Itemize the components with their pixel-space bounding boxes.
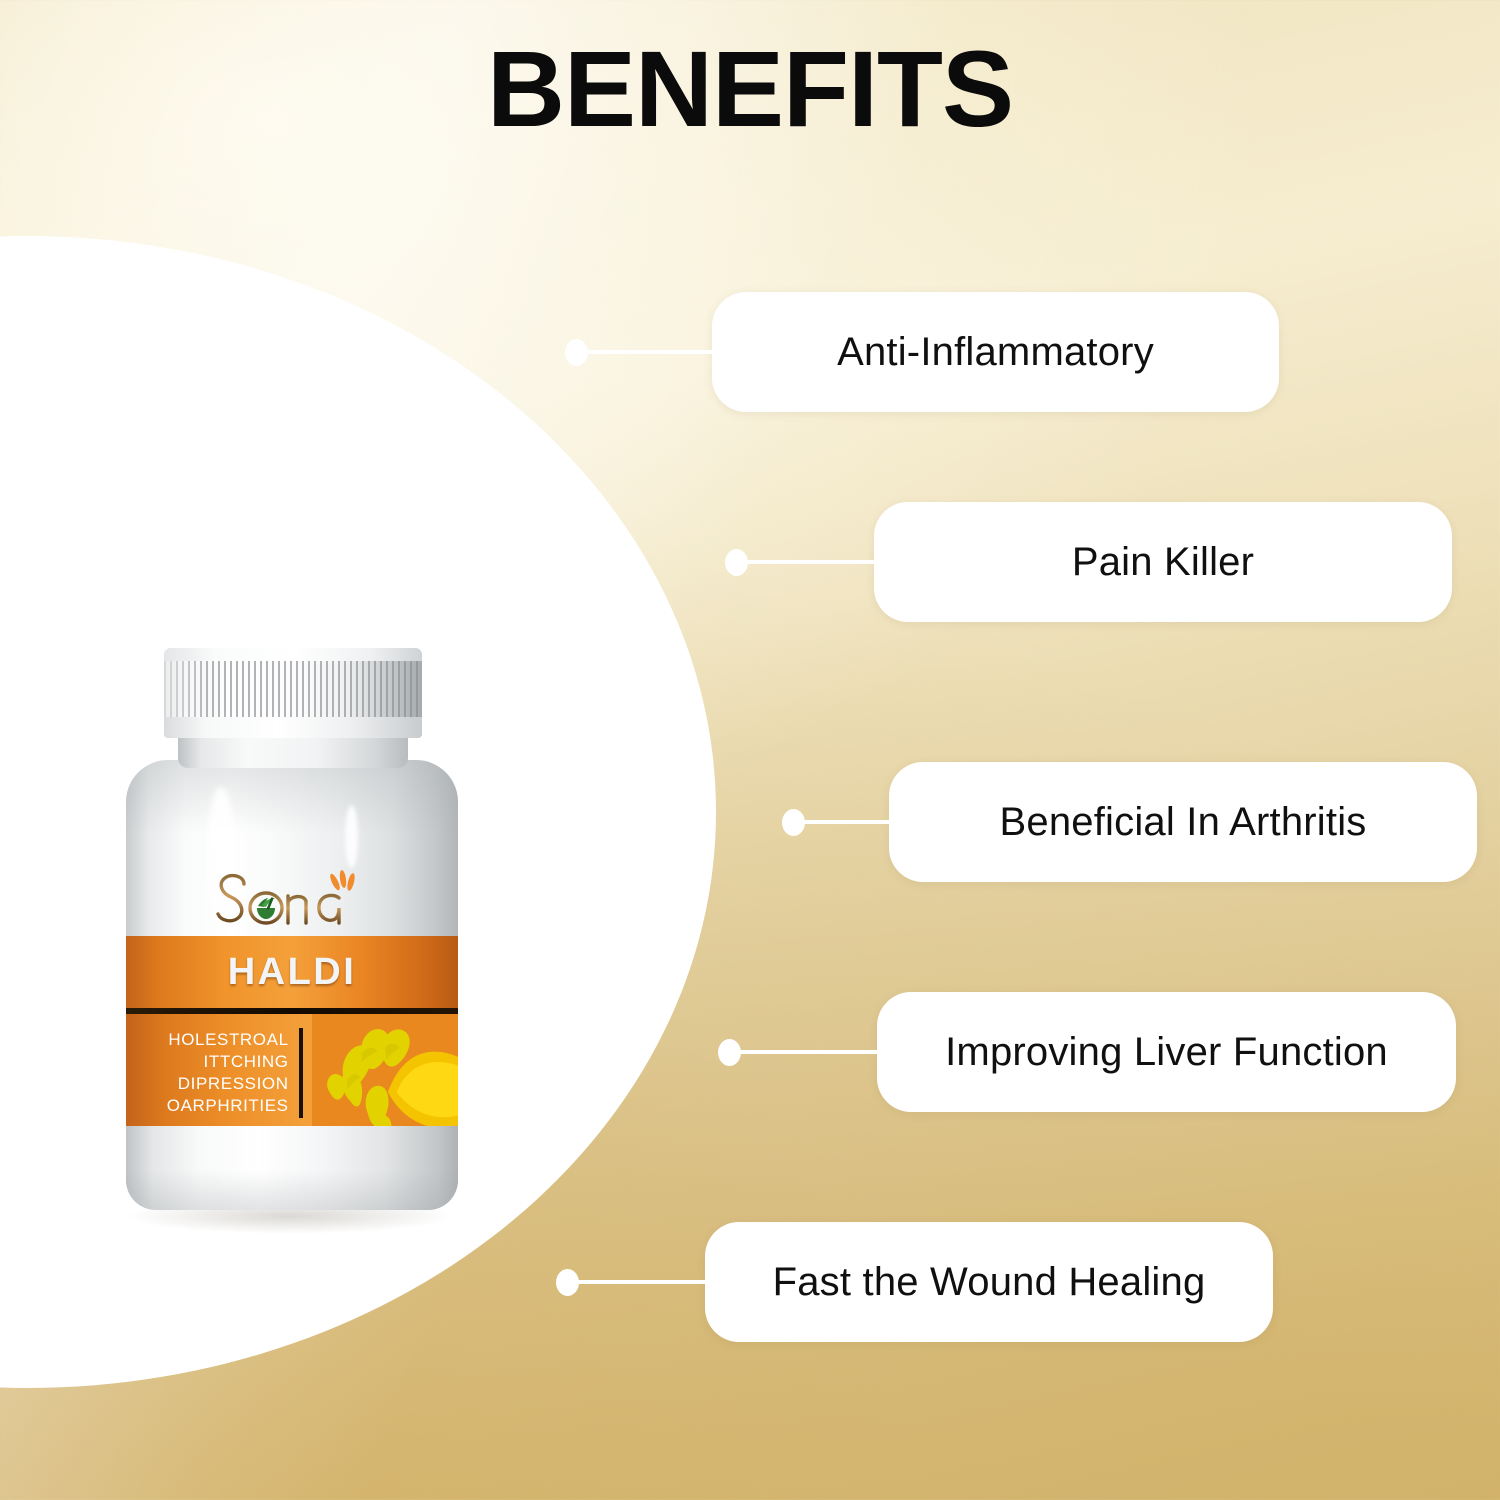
product-bottle: HALDI HOLESTROAL ITTCHING DIPRESSION OAR… [112, 648, 472, 1228]
benefit-row[interactable]: Fast the Wound Healing [556, 1222, 1273, 1342]
label-body: HOLESTROAL ITTCHING DIPRESSION OARPHRITI… [126, 1014, 458, 1132]
use-item: HOLESTROAL [132, 1029, 289, 1051]
label-vertical-divider [299, 1028, 303, 1118]
benefit-row[interactable]: Pain Killer [725, 502, 1452, 622]
connector-dot-icon [556, 1269, 579, 1296]
product-name: HALDI [228, 951, 357, 994]
connector-dot-icon [718, 1039, 741, 1066]
benefit-pill[interactable]: Beneficial In Arthritis [889, 762, 1477, 882]
turmeric-root-icon [312, 1014, 458, 1132]
cap-bottom-rim [164, 717, 422, 738]
use-item: DIPRESSION [132, 1073, 289, 1095]
connector-line [739, 1050, 879, 1054]
cap-ribs-shading [164, 661, 422, 717]
bottle-body: HALDI HOLESTROAL ITTCHING DIPRESSION OAR… [126, 760, 458, 1210]
benefit-label: Improving Liver Function [945, 1030, 1388, 1075]
page-title: BENEFITS [0, 26, 1500, 151]
benefit-label: Fast the Wound Healing [773, 1260, 1206, 1305]
benefit-label: Pain Killer [1072, 540, 1254, 585]
benefit-row[interactable]: Improving Liver Function [718, 992, 1456, 1112]
wheat-sprig-icon [328, 870, 356, 892]
connector-line [803, 820, 891, 824]
product-label: HALDI HOLESTROAL ITTCHING DIPRESSION OAR… [126, 936, 458, 1132]
bottle-shoulder-shading [126, 760, 458, 834]
brand-logo [126, 868, 458, 934]
bottle-lower-section [126, 1126, 458, 1210]
connector-dot-icon [782, 809, 805, 836]
benefit-label: Beneficial In Arthritis [1000, 800, 1367, 845]
bottle-neck [178, 734, 408, 768]
connector-line [746, 560, 876, 564]
use-item: ITTCHING [132, 1051, 289, 1073]
use-item: OARPHRITIES [132, 1095, 289, 1117]
product-uses-list: HOLESTROAL ITTCHING DIPRESSION OARPHRITI… [126, 1029, 299, 1117]
turmeric-image [312, 1014, 458, 1132]
connector-dot-icon [565, 339, 588, 366]
benefit-pill[interactable]: Anti-Inflammatory [712, 292, 1279, 412]
benefit-label: Anti-Inflammatory [837, 330, 1154, 375]
connector-line [577, 1280, 707, 1284]
bottle-base-shading [126, 1170, 458, 1210]
cap-top-surface [164, 648, 422, 661]
connector-dot-icon [725, 549, 748, 576]
benefit-row[interactable]: Anti-Inflammatory [565, 292, 1279, 412]
sona-wordmark-icon [207, 868, 377, 934]
benefit-row[interactable]: Beneficial In Arthritis [782, 762, 1477, 882]
benefit-pill[interactable]: Fast the Wound Healing [705, 1222, 1273, 1342]
connector-line [586, 350, 714, 354]
bottle-cap [164, 648, 422, 738]
label-title-band: HALDI [126, 936, 458, 1008]
benefit-pill[interactable]: Improving Liver Function [877, 992, 1456, 1112]
benefit-pill[interactable]: Pain Killer [874, 502, 1452, 622]
mortar-pestle-icon [257, 897, 275, 919]
